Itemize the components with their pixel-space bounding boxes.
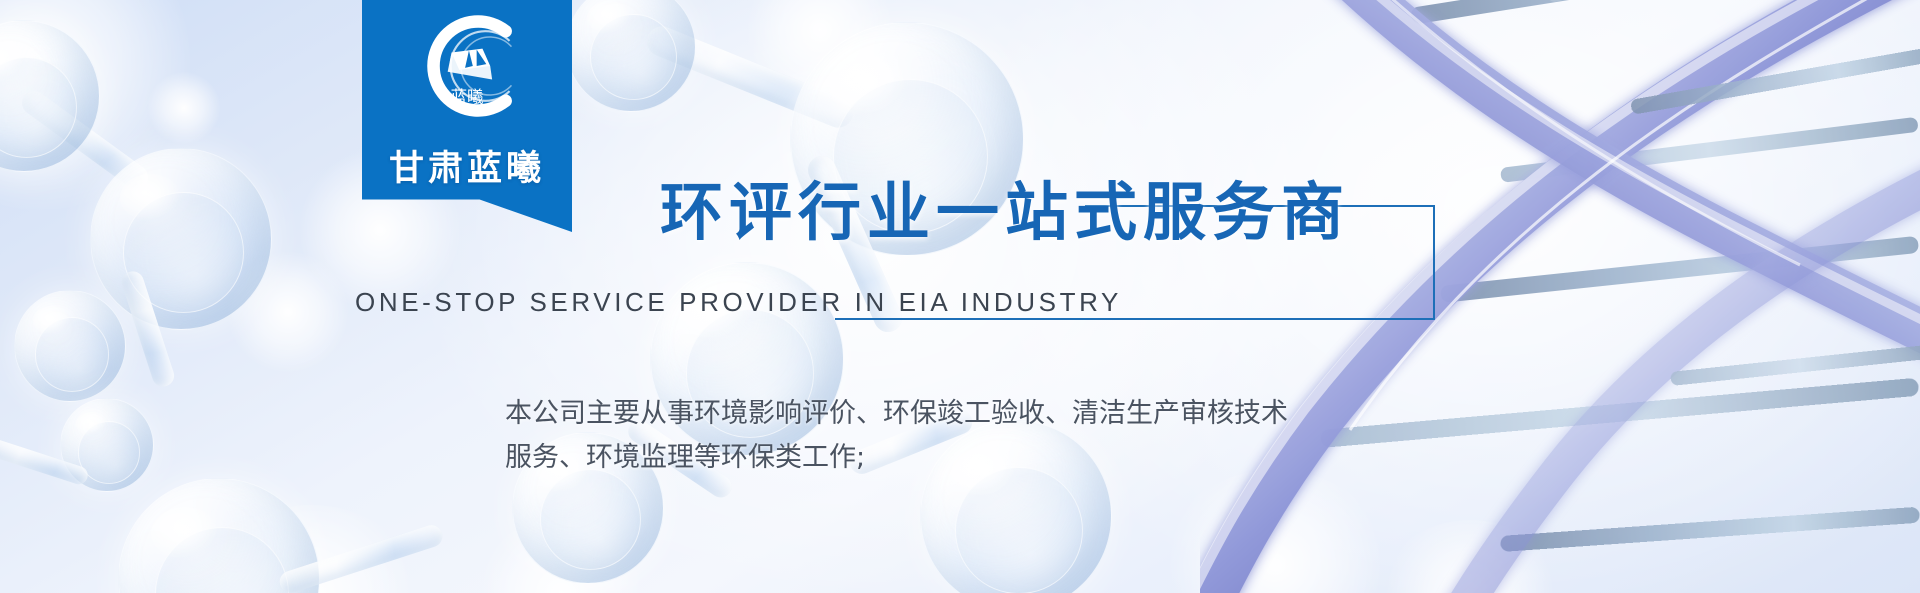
bg-glow [200,505,420,593]
bg-glow [0,0,190,210]
molecule-sphere [60,398,154,492]
bg-glow [148,72,220,144]
body-line: 服务、环境监理等环保类工作; [505,436,1435,480]
brand-badge[interactable]: 蓝曦 甘肃蓝曦 [362,0,572,232]
bg-glow [476,518,646,593]
molecule-sphere [566,0,696,112]
molecule-sphere [0,20,100,172]
bg-glow [228,252,348,372]
molecule-sphere [118,478,320,593]
molecule-bond [17,86,152,194]
molecule-sphere [90,148,272,330]
logo-mark-text: 蓝曦 [451,88,484,107]
molecule-bond [119,269,177,390]
body-line: 本公司主要从事环境影响评价、环保竣工验收、清洁生产审核技术 [505,392,1435,436]
molecule-sphere [14,290,126,402]
lanxi-circle-logo-icon: 蓝曦 [409,8,525,124]
bg-glow [745,0,895,100]
molecule-bond [277,522,445,593]
molecule-bond [0,435,90,486]
molecule-bond [642,22,857,132]
company-name: 甘肃蓝曦 [362,140,572,191]
subtitle-english: ONE-STOP SERVICE PROVIDER IN EIA INDUSTR… [355,287,1122,318]
body-description: 本公司主要从事环境影响评价、环保竣工验收、清洁生产审核技术 服务、环境监理等环保… [505,392,1435,480]
hero-banner: 蓝曦 甘肃蓝曦 环评行业一站式服务商 ONE-STOP SERVICE PROV… [0,0,1920,593]
dna-double-helix-icon [1200,0,1920,593]
page-title: 环评行业一站式服务商 [660,162,1350,253]
